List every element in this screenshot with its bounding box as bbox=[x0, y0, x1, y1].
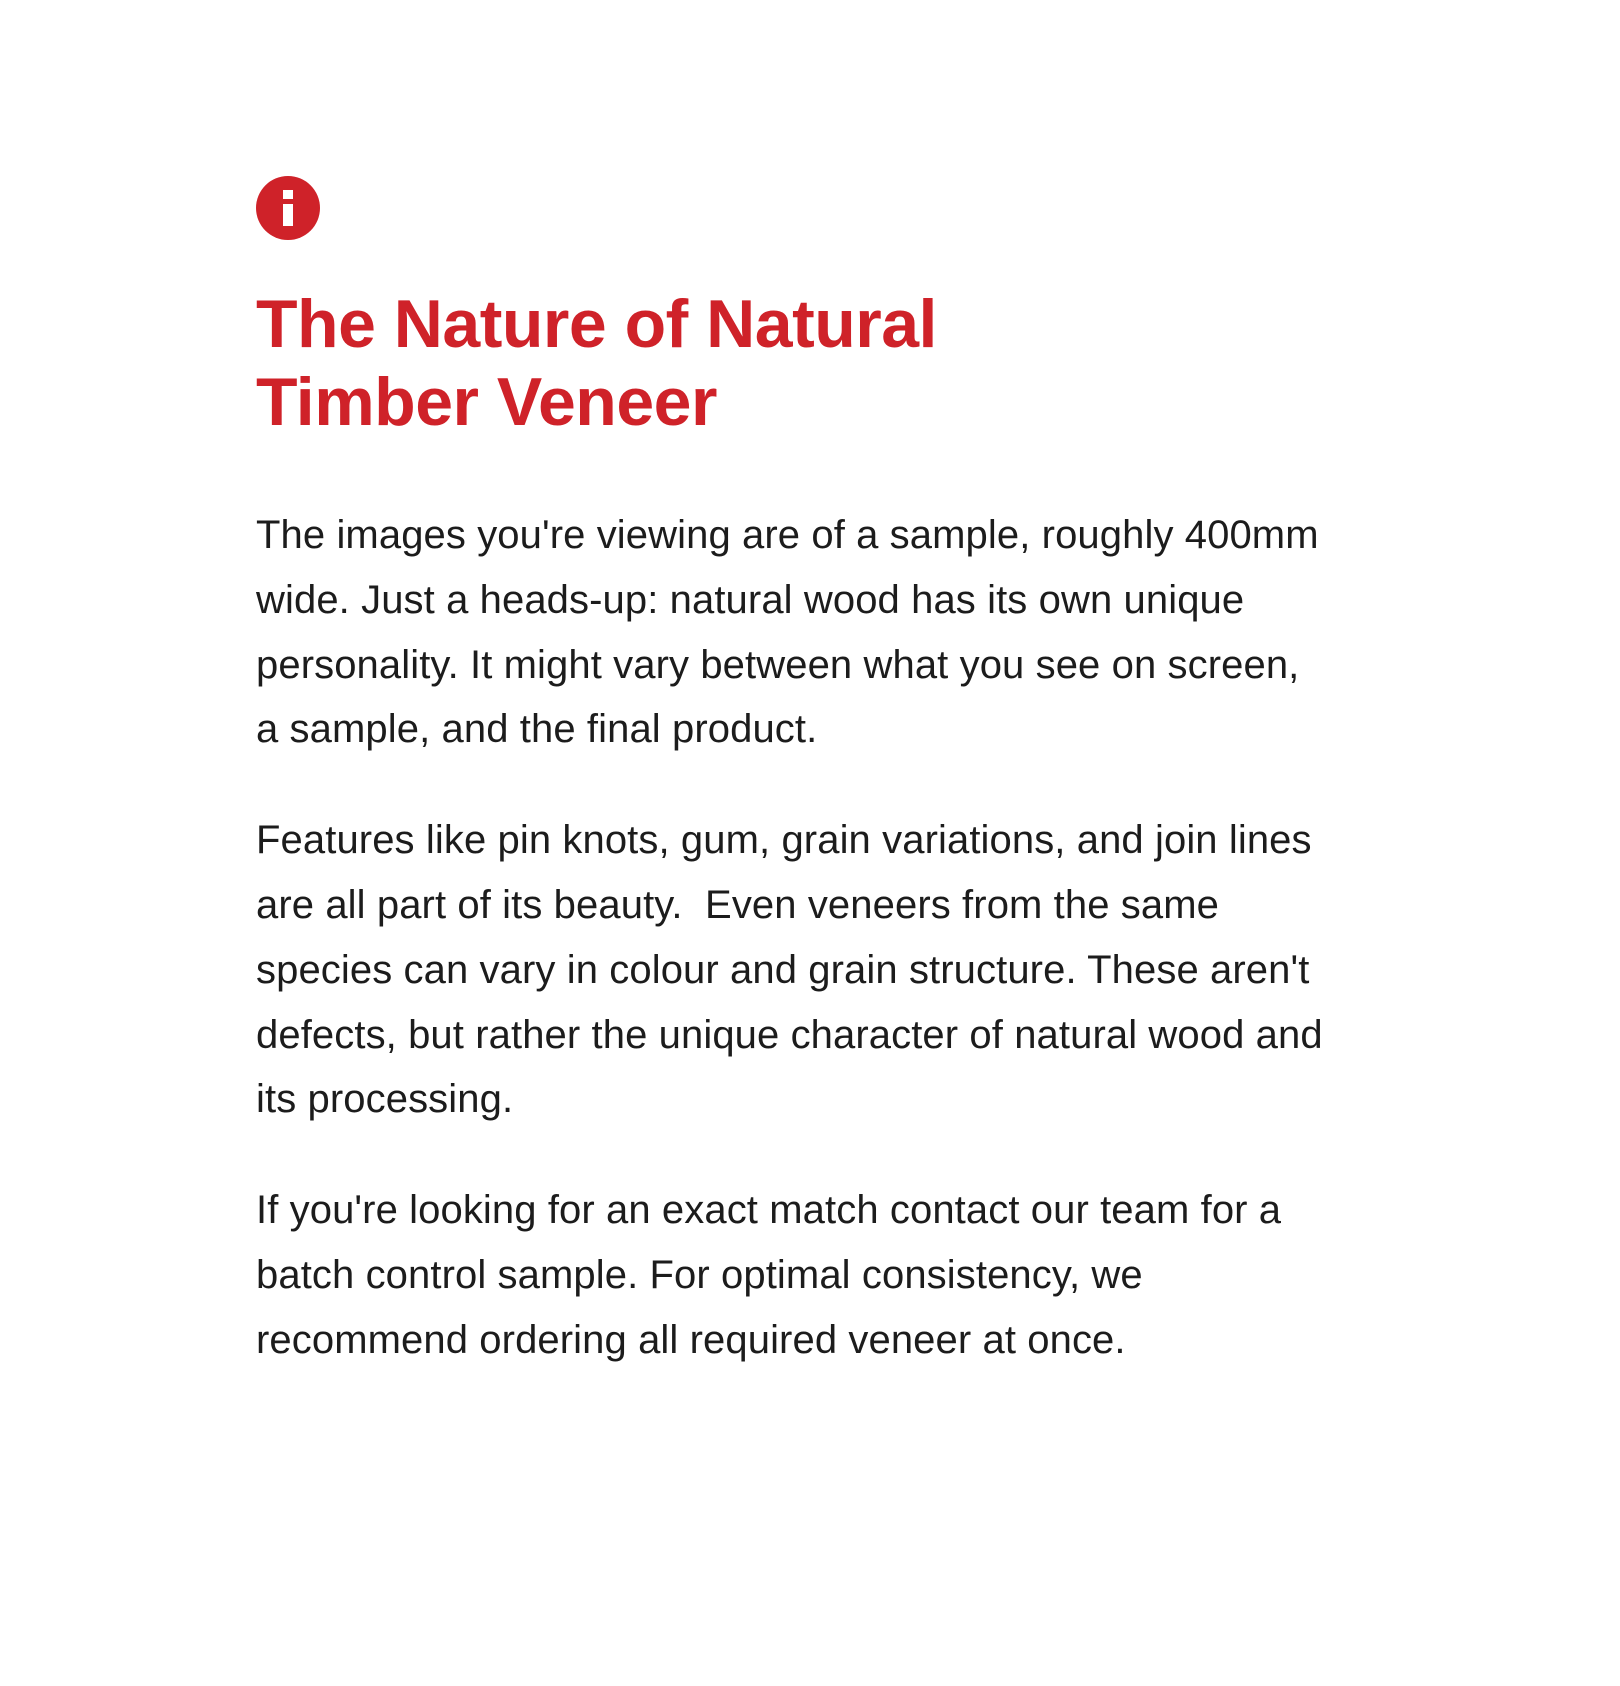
info-panel: The Nature of Natural Timber Veneer The … bbox=[0, 0, 1620, 1686]
page-title: The Nature of Natural Timber Veneer bbox=[256, 286, 1016, 441]
body-copy: The images you're viewing are of a sampl… bbox=[256, 503, 1326, 1373]
info-icon bbox=[256, 176, 320, 240]
info-icon-glyph bbox=[277, 190, 299, 226]
paragraph-exact-match-advice: If you're looking for an exact match con… bbox=[256, 1178, 1326, 1372]
info-panel-content: The Nature of Natural Timber Veneer The … bbox=[256, 176, 1326, 1373]
paragraph-sample-disclaimer: The images you're viewing are of a sampl… bbox=[256, 503, 1326, 762]
paragraph-natural-features: Features like pin knots, gum, grain vari… bbox=[256, 808, 1326, 1132]
